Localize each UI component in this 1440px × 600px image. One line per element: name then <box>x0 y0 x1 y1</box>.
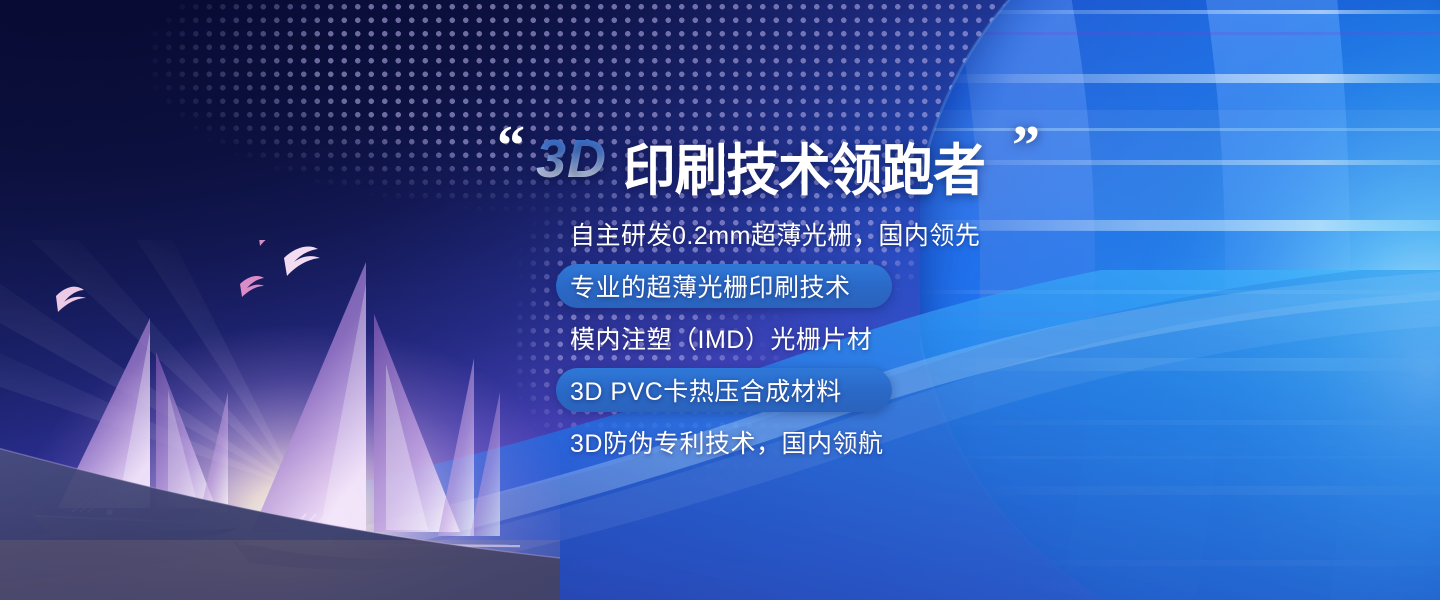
feature-label: 3D PVC卡热压合成材料 <box>570 372 842 408</box>
headline-text: 印刷技术领跑者 <box>623 126 985 207</box>
feature-label: 模内注塑（IMD）光栅片材 <box>570 320 872 356</box>
feature-item-1: 自主研发0.2mm超薄光栅，国内领先 <box>556 212 986 256</box>
feature-label: 3D防伪专利技术，国内领航 <box>570 424 883 460</box>
banner-copy: “ 3D 印刷技术领跑者 ” 自主研发0.2mm超薄光栅，国内领先 专业的超薄光… <box>0 0 1440 600</box>
headline-accent-3d: 3D <box>536 128 607 190</box>
feature-label: 自主研发0.2mm超薄光栅，国内领先 <box>570 216 980 252</box>
feature-list: 自主研发0.2mm超薄光栅，国内领先 专业的超薄光栅印刷技术 模内注塑（IMD）… <box>556 212 986 472</box>
feature-label: 专业的超薄光栅印刷技术 <box>570 268 851 304</box>
close-quote-mark: ” <box>1012 124 1041 168</box>
feature-item-3: 模内注塑（IMD）光栅片材 <box>556 316 986 360</box>
open-quote-mark: “ <box>497 124 526 168</box>
feature-item-2[interactable]: 专业的超薄光栅印刷技术 <box>556 264 892 308</box>
feature-item-5: 3D防伪专利技术，国内领航 <box>556 420 986 464</box>
page-title: “ 3D 印刷技术领跑者 ” <box>497 124 1041 207</box>
feature-item-4[interactable]: 3D PVC卡热压合成材料 <box>556 368 892 412</box>
hero-banner: “ 3D 印刷技术领跑者 ” 自主研发0.2mm超薄光栅，国内领先 专业的超薄光… <box>0 0 1440 600</box>
